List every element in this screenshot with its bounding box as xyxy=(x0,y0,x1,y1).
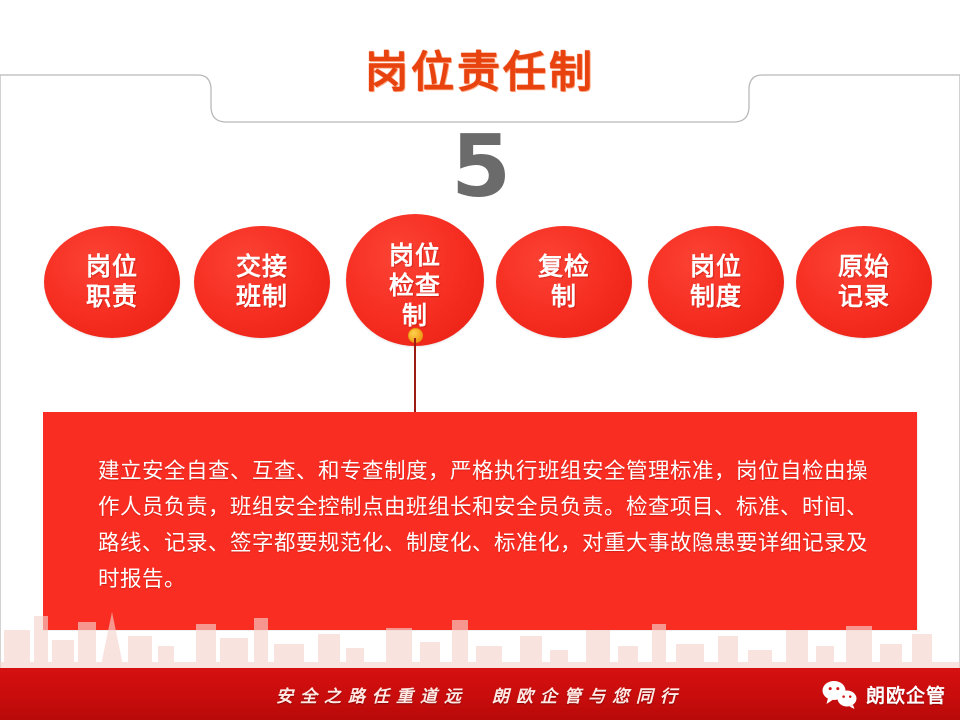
bubble-label: 原始 记录 xyxy=(838,252,890,312)
city-skyline-watermark xyxy=(0,600,960,670)
bubble-gangwei-zhidu[interactable]: 岗位 制度 xyxy=(648,226,784,338)
bubble-gangwei-zhize[interactable]: 岗位 职责 xyxy=(44,226,180,338)
content-panel-text: 建立安全自查、互查、和专查制度，严格执行班组安全管理标准，岗位自检由操作人员负责… xyxy=(98,454,868,598)
section-number: 5 xyxy=(0,124,960,210)
wechat-account-name: 朗欧企管 xyxy=(866,681,946,708)
content-panel: 建立安全自查、互查、和专查制度，严格执行班组安全管理标准，岗位自检由操作人员负责… xyxy=(43,412,917,630)
bubble-label: 交接 班制 xyxy=(236,252,288,312)
bubble-yuanshi-jilu[interactable]: 原始 记录 xyxy=(796,226,932,338)
bubble-label: 复检 制 xyxy=(538,252,590,312)
bubble-jiaojie-banzhi[interactable]: 交接 班制 xyxy=(194,226,330,338)
bubble-label: 岗位 职责 xyxy=(86,252,138,312)
bubble-row: 岗位 职责 交接 班制 岗位 检查 制 复检 制 岗位 制度 原始 记录 xyxy=(0,214,960,344)
footer-slogan: 安全之路任重道远 朗欧企管与您同行 xyxy=(0,682,960,707)
connector-line xyxy=(414,338,416,414)
slide-canvas: 岗位责任制 5 岗位 职责 交接 班制 岗位 检查 制 复检 制 岗位 制度 原… xyxy=(0,0,960,720)
connector-dot xyxy=(408,328,423,343)
page-title: 岗位责任制 xyxy=(0,38,960,100)
bubble-label: 岗位 制度 xyxy=(690,252,742,312)
bubble-label: 岗位 检查 制 xyxy=(389,241,441,331)
bubble-fujian-zhi[interactable]: 复检 制 xyxy=(496,226,632,338)
wechat-badge[interactable]: 朗欧企管 xyxy=(821,676,946,712)
bubble-gangwei-jiancha-zhi[interactable]: 岗位 检查 制 xyxy=(346,214,484,346)
footer-bar: 安全之路任重道远 朗欧企管与您同行 朗欧企管 xyxy=(0,668,960,720)
wechat-icon xyxy=(821,679,859,709)
